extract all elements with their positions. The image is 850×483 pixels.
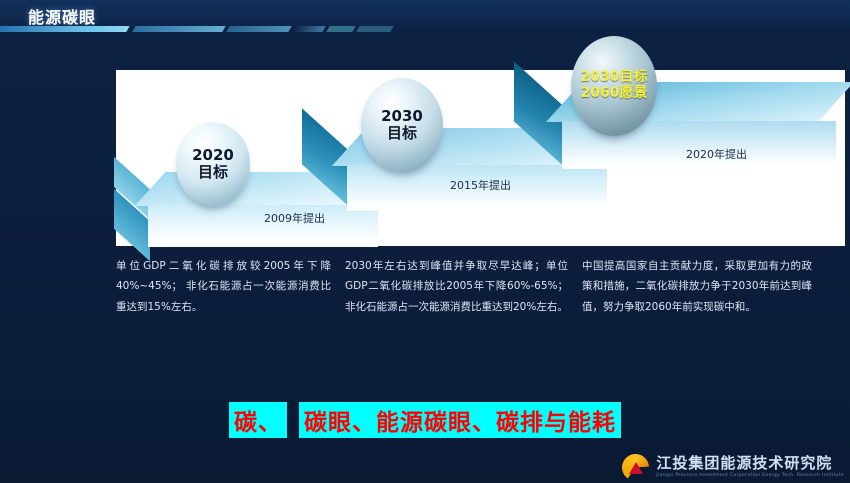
deco-segment-3 bbox=[226, 26, 291, 32]
staircase-diagram-panel: 2009年提出 2015年提出 2020年提出 2020 目标 2030 目标 … bbox=[116, 70, 845, 246]
description-column-1: 单位GDP二氧化碳排放较2005年下降40%~45%； 非化石能源占一次能源消费… bbox=[116, 256, 331, 361]
step-2-year-label: 2015年提出 bbox=[450, 177, 511, 193]
step-3-year-label: 2020年提出 bbox=[686, 146, 747, 162]
header-band bbox=[0, 0, 850, 26]
step-1-year-label: 2009年提出 bbox=[264, 210, 325, 226]
sphere-1-line-1: 2020 bbox=[192, 147, 234, 164]
logo-name-en: Jiangxi Province Investment Corporation … bbox=[656, 474, 844, 479]
sphere-3-line-1: 2030目标 bbox=[581, 70, 648, 86]
staircase-graphic: 2009年提出 2015年提出 2020年提出 2020 目标 2030 目标 … bbox=[116, 70, 845, 246]
deco-segment-2 bbox=[132, 26, 225, 32]
deco-segment-1 bbox=[0, 26, 130, 32]
milestone-sphere-2030: 2030 目标 bbox=[361, 78, 443, 172]
sphere-2-line-1: 2030 bbox=[381, 108, 423, 125]
description-column-3: 中国提高国家自主贡献力度，采取更加有力的政策和措施，二氧化碳排放力争于2030年… bbox=[582, 256, 812, 361]
description-columns: 单位GDP二氧化碳排放较2005年下降40%~45%； 非化石能源占一次能源消费… bbox=[116, 256, 845, 361]
deco-segment-6 bbox=[356, 26, 393, 32]
milestone-sphere-2060: 2030目标 2060愿景 bbox=[571, 36, 657, 136]
logo-mark-icon bbox=[622, 454, 649, 481]
corporate-logo: 江投集团能源技术研究院 Jiangxi Province Investment … bbox=[622, 454, 844, 481]
deco-segment-4 bbox=[292, 26, 325, 32]
slide-header: 能源碳眼 bbox=[0, 0, 850, 40]
page-title: 能源碳眼 bbox=[28, 4, 96, 28]
slide-root: 能源碳眼 bbox=[0, 0, 850, 483]
sphere-2-line-2: 目标 bbox=[387, 125, 417, 142]
sphere-1-line-2: 目标 bbox=[198, 164, 228, 181]
stair-step-3 bbox=[516, 82, 846, 246]
caption-chunk-1: 碳、 bbox=[229, 402, 287, 438]
logo-text-block: 江投集团能源技术研究院 Jiangxi Province Investment … bbox=[656, 456, 844, 479]
bottom-caption: 碳、 碳眼、能源碳眼、碳排与能耗 bbox=[0, 400, 850, 440]
logo-name-cn: 江投集团能源技术研究院 bbox=[656, 456, 844, 471]
caption-chunk-2: 碳眼、能源碳眼、碳排与能耗 bbox=[299, 402, 621, 438]
deco-segment-5 bbox=[326, 26, 355, 32]
description-column-2: 2030年左右达到峰值并争取尽早达峰；单位GDP二氧化碳排放比2005年下降60… bbox=[345, 256, 568, 361]
header-decorative-line bbox=[0, 26, 500, 34]
sphere-3-line-2: 2060愿景 bbox=[581, 86, 648, 102]
milestone-sphere-2020: 2020 目标 bbox=[176, 122, 250, 206]
